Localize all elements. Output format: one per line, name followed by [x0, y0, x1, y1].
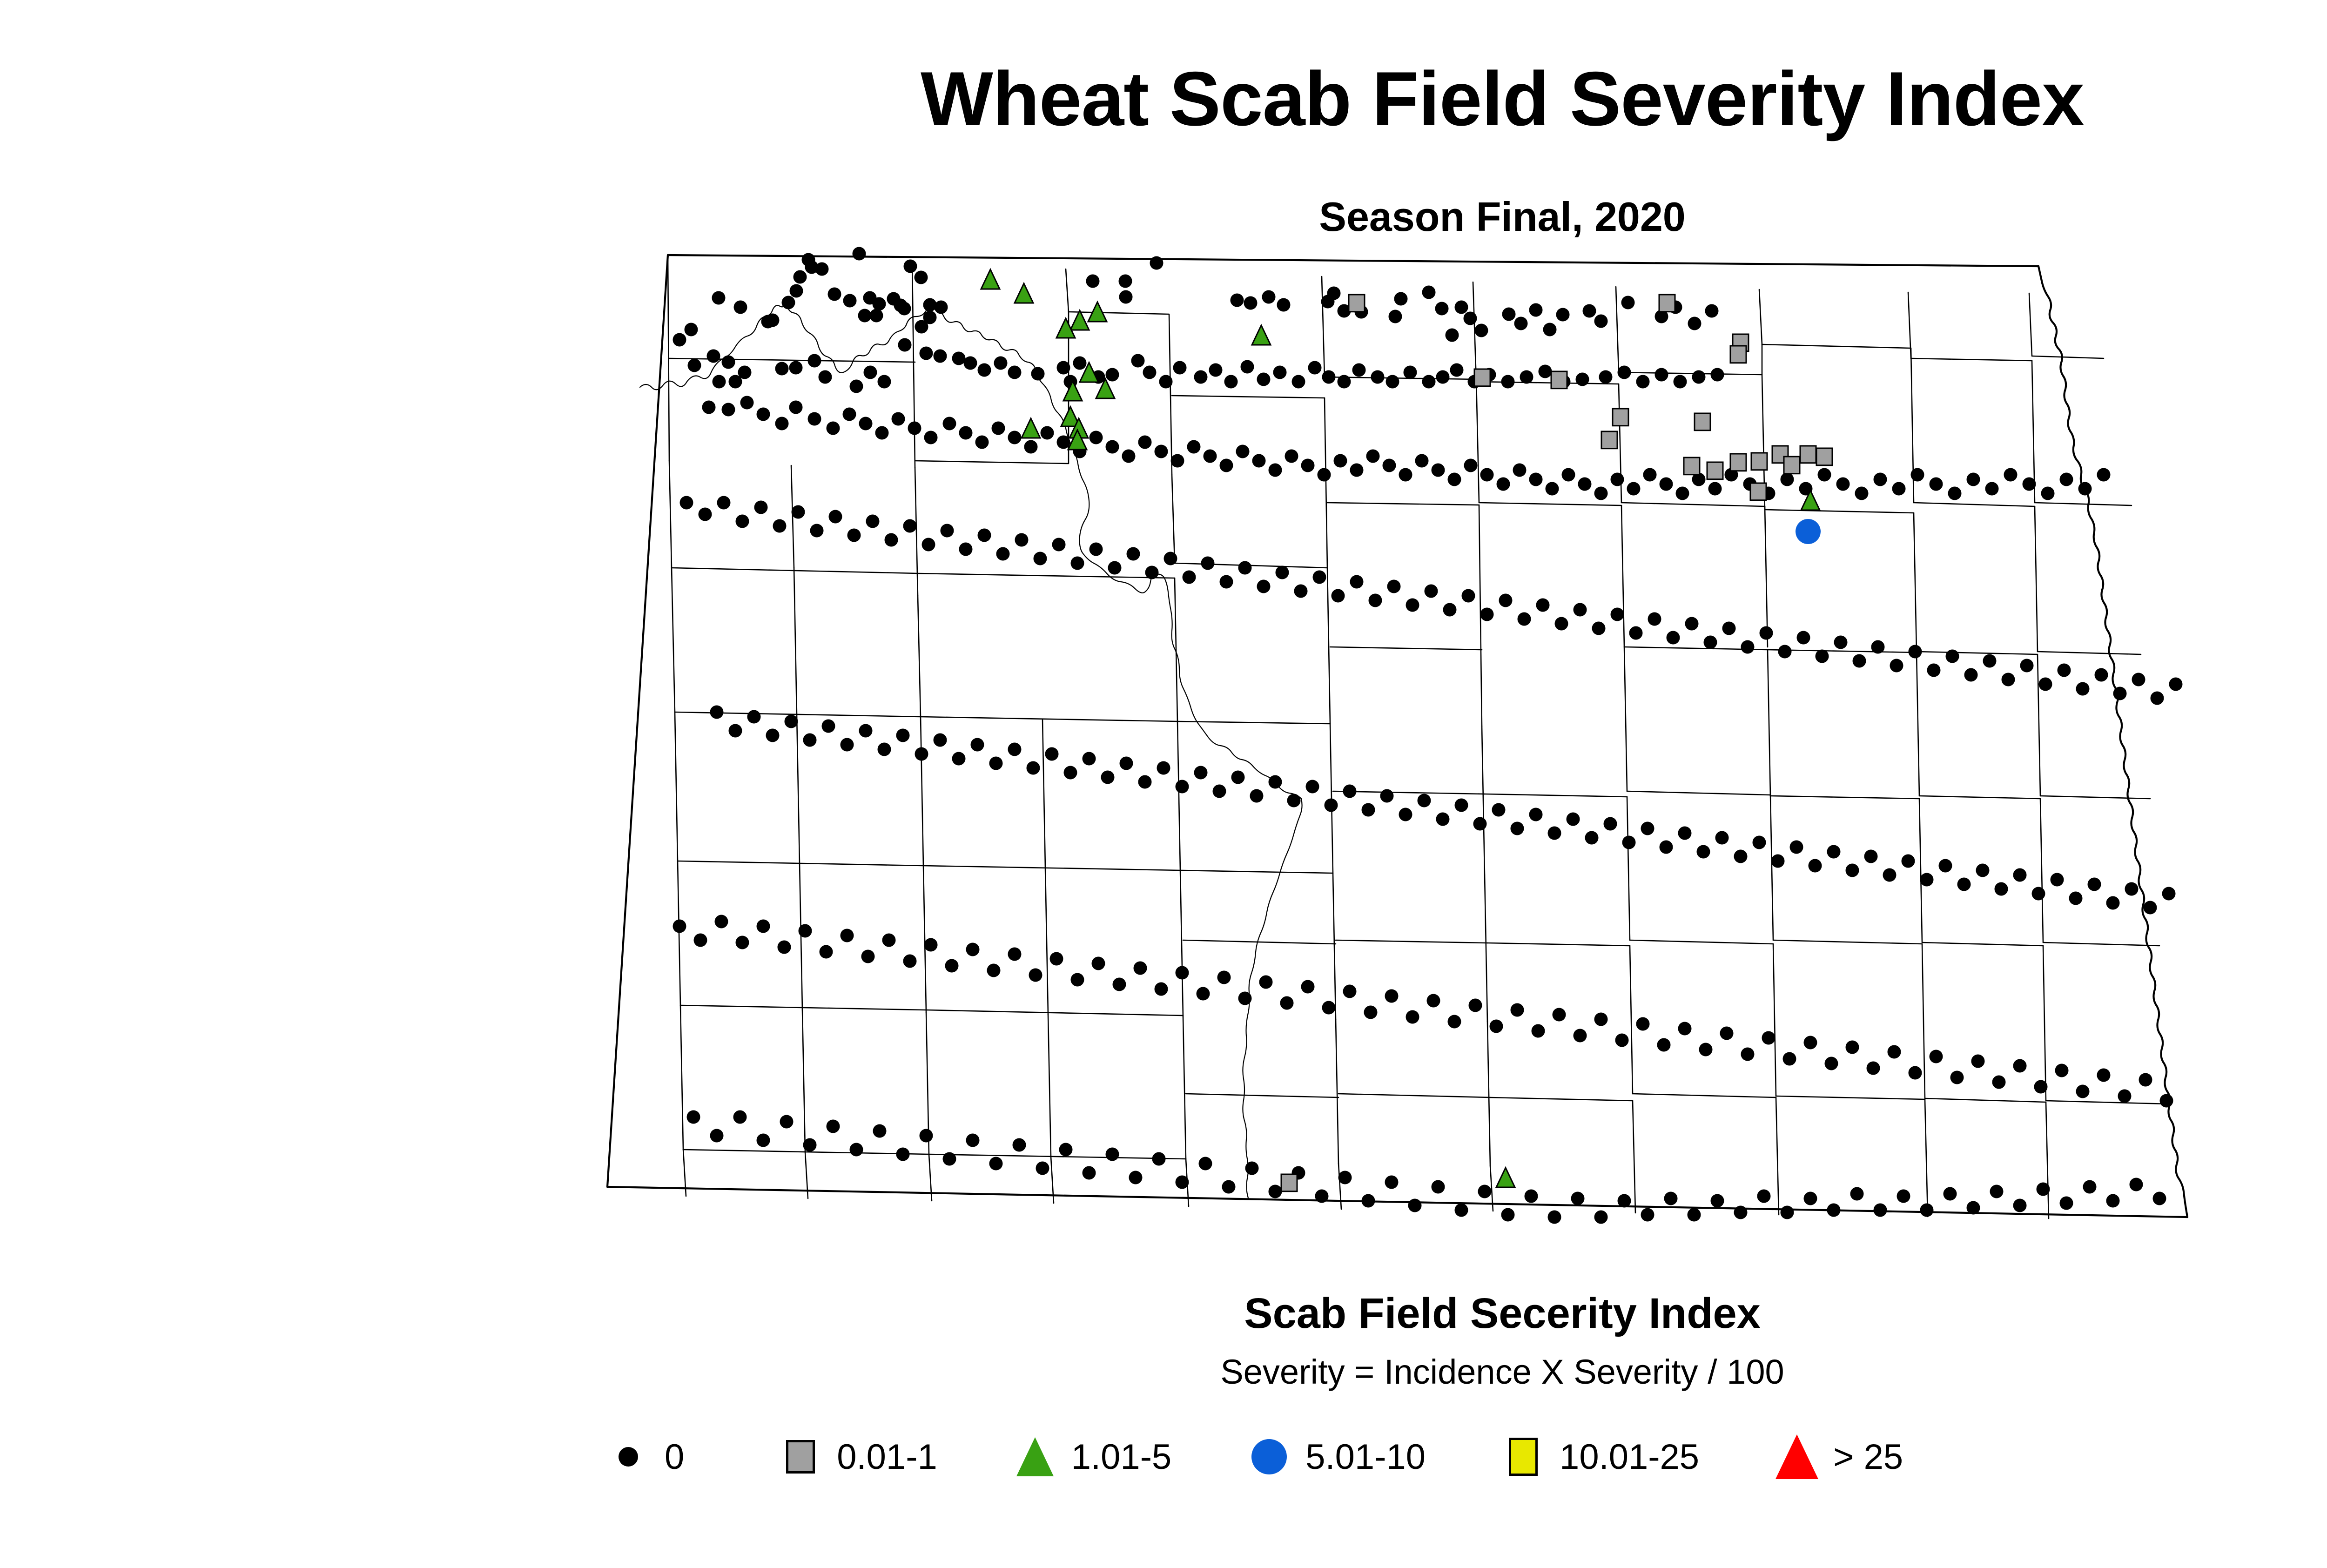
county-boundaries: [668, 255, 2169, 1218]
state-outline: [607, 255, 2187, 1217]
legend-label-3: 5.01-10: [1297, 1437, 1426, 1477]
legend: 0 0.01-1 1.01-5 5.01-10 10.01-25: [600, 1420, 2327, 1494]
legend-formula: Severity = Incidence X Severity / 100: [0, 1352, 2327, 1392]
legend-item-3[interactable]: 5.01-10: [1241, 1420, 1426, 1494]
legend-circle-black-icon: [600, 1420, 656, 1494]
legend-label-0: 0: [656, 1437, 684, 1477]
page-title: Wheat Scab Field Severity Index: [0, 55, 2327, 143]
legend-triangle-green-icon: [1007, 1420, 1063, 1494]
north-dakota-map[interactable]: [596, 242, 2239, 1233]
legend-label-4: 10.01-25: [1551, 1437, 1699, 1477]
legend-item-5[interactable]: > 25: [1769, 1420, 1903, 1494]
legend-label-1: 0.01-1: [828, 1437, 937, 1477]
legend-triangle-red-icon: [1769, 1420, 1825, 1494]
legend-item-4[interactable]: 10.01-25: [1495, 1420, 1699, 1494]
data-points-class-1p01-5: [981, 269, 1820, 1187]
map-figure-page: Wheat Scab Field Severity Index Season F…: [0, 0, 2327, 1568]
legend-circle-blue-icon: [1241, 1420, 1297, 1494]
legend-label-2: 1.01-5: [1063, 1437, 1172, 1477]
data-points-class-0: [673, 247, 2183, 1224]
data-points-class-5p01-10: [1796, 519, 1821, 544]
legend-item-0[interactable]: 0: [600, 1420, 684, 1494]
legend-square-gray-icon: [773, 1420, 828, 1494]
legend-label-5: > 25: [1825, 1437, 1903, 1477]
page-subtitle: Season Final, 2020: [0, 193, 2327, 241]
legend-square-yellow-icon: [1495, 1420, 1551, 1494]
legend-item-2[interactable]: 1.01-5: [1007, 1420, 1172, 1494]
map-svg: [596, 242, 2239, 1233]
legend-item-1[interactable]: 0.01-1: [773, 1420, 937, 1494]
legend-title: Scab Field Secerity Index: [0, 1289, 2327, 1338]
